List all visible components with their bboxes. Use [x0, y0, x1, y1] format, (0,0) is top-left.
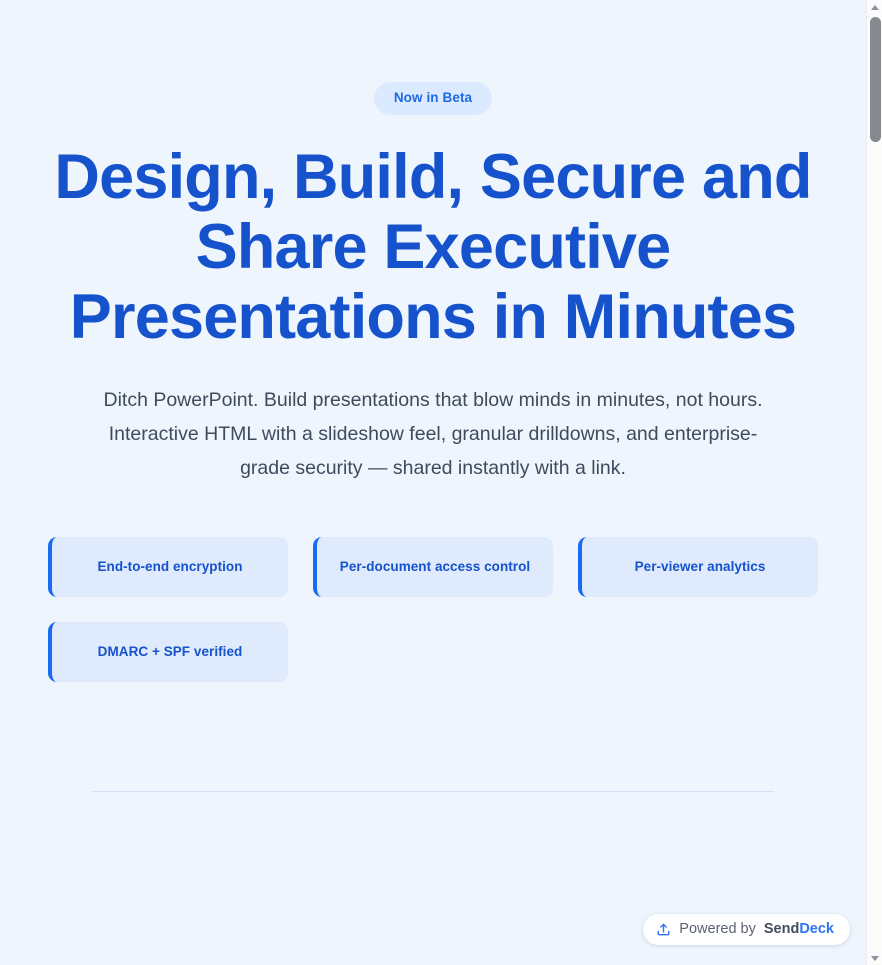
hero-subtitle: Ditch PowerPoint. Build presentations th…	[88, 383, 778, 485]
feature-card-label: Per-viewer analytics	[635, 558, 766, 576]
feature-card-dmarc-spf[interactable]: DMARC + SPF verified	[48, 622, 288, 682]
vertical-scrollbar[interactable]	[866, 0, 882, 965]
triangle-up-icon	[871, 5, 879, 10]
brand-word-deck: Deck	[799, 921, 834, 937]
section-divider	[92, 791, 774, 792]
section-divider-wrap	[0, 791, 866, 792]
triangle-down-icon	[871, 956, 879, 961]
scrollbar-track[interactable]	[867, 14, 882, 951]
beta-badge-row: Now in Beta	[48, 82, 818, 115]
feature-card-label: End-to-end encryption	[97, 558, 242, 576]
powered-by-badge[interactable]: Powered by SendDeck	[643, 914, 850, 945]
powered-by-label: Powered by	[679, 922, 756, 937]
page-title: Design, Build, Secure and Share Executiv…	[48, 142, 818, 352]
brand-logo-text: SendDeck	[764, 922, 834, 937]
landing-page: Now in Beta Design, Build, Secure and Sh…	[0, 0, 866, 965]
feature-card-access-control[interactable]: Per-document access control	[313, 537, 553, 597]
feature-card-label: Per-document access control	[340, 558, 530, 576]
feature-card-analytics[interactable]: Per-viewer analytics	[578, 537, 818, 597]
hero-section: Now in Beta Design, Build, Secure and Sh…	[0, 0, 866, 485]
feature-card-label: DMARC + SPF verified	[98, 643, 243, 661]
browser-viewport: Now in Beta Design, Build, Secure and Sh…	[0, 0, 882, 965]
feature-card-encryption[interactable]: End-to-end encryption	[48, 537, 288, 597]
upload-icon	[656, 922, 671, 937]
feature-chip-list: End-to-end encryption Per-document acces…	[0, 537, 866, 682]
status-badge-beta[interactable]: Now in Beta	[374, 82, 492, 115]
scrollbar-thumb[interactable]	[870, 17, 881, 142]
scroll-down-button[interactable]	[867, 951, 882, 965]
scroll-up-button[interactable]	[867, 0, 882, 14]
brand-word-send: Send	[764, 921, 799, 937]
